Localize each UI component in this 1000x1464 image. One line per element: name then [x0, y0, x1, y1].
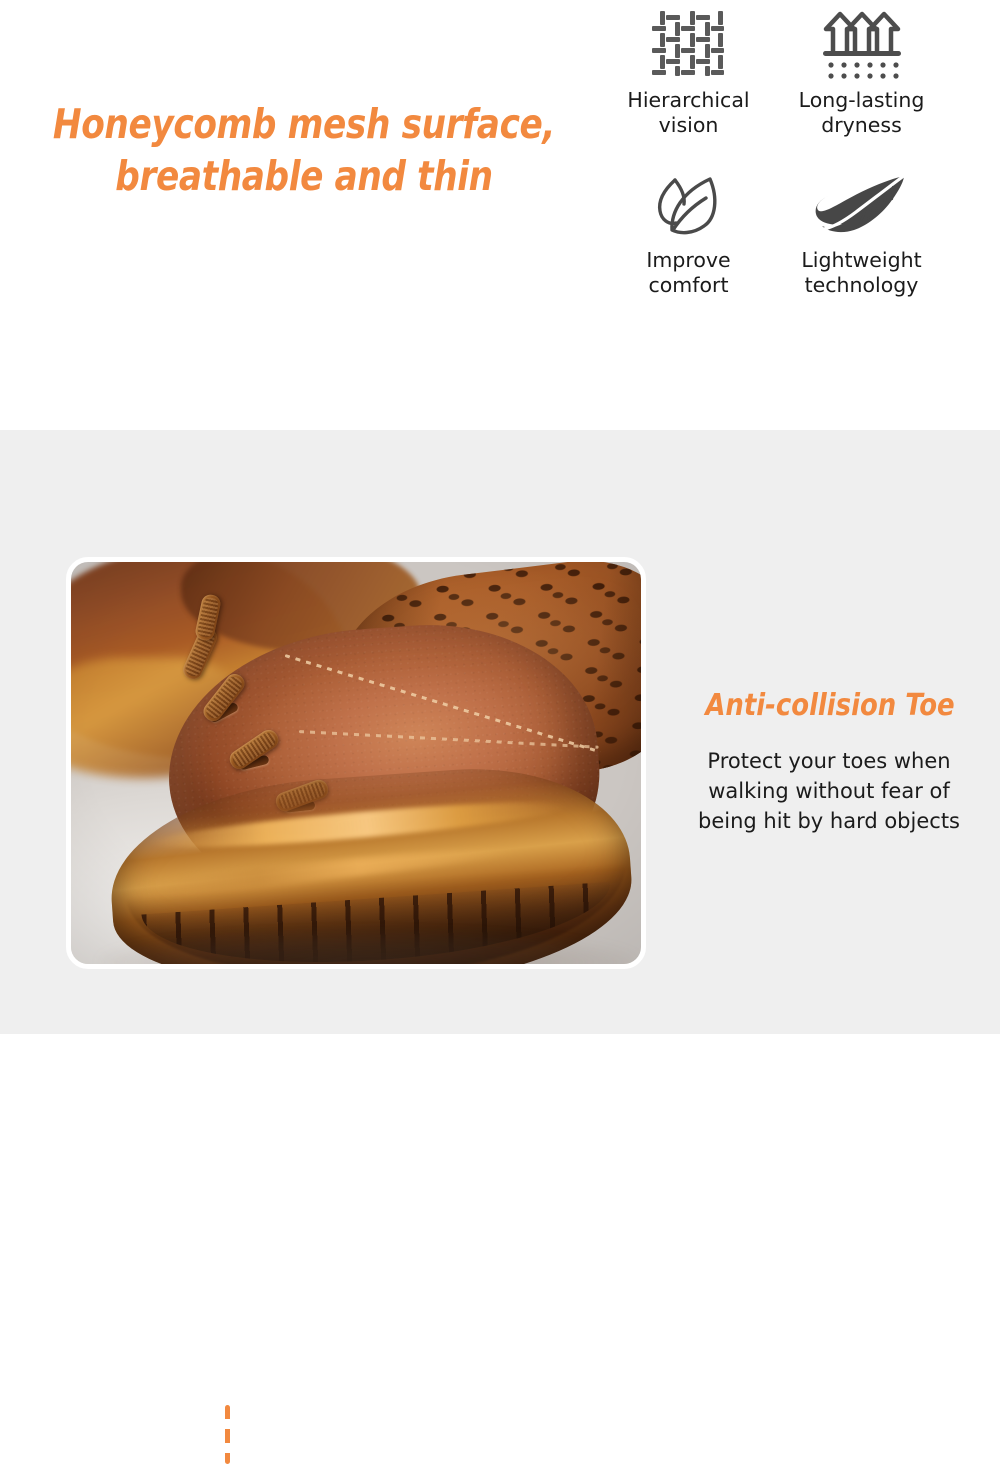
leaves-comfort-icon — [648, 166, 730, 244]
anti-collision-toe-description: Protect your toes when walking without f… — [660, 746, 998, 836]
anti-collision-toe-section — [0, 430, 1000, 1034]
shoe-toe-photo-frame — [66, 557, 646, 969]
feature-item-improve-comfort: Improve comfort — [605, 166, 772, 298]
feature-label-hierarchical-vision: Hierarchical vision — [627, 88, 749, 138]
headline-line-2: breathable and thin — [21, 150, 586, 202]
feature-item-long-lasting-dryness: Long-lasting dryness — [778, 6, 945, 138]
feature-label-line-1: Long-lasting — [799, 88, 925, 112]
lace-strap — [194, 593, 222, 642]
foreground-shoe — [89, 580, 641, 964]
feature-item-hierarchical-vision: Hierarchical vision — [605, 6, 772, 138]
feature-label-lightweight-technology: Lightweight technology — [801, 248, 921, 298]
feature-label-line-2: vision — [659, 113, 719, 137]
main-headline: Honeycomb mesh surface, breathable and t… — [21, 98, 586, 202]
top-feature-section: Honeycomb mesh surface, breathable and t… — [0, 0, 1000, 430]
shoe-toe-photo — [71, 562, 641, 964]
description-line-2: walking without fear of — [660, 776, 998, 806]
feature-label-line-1: Improve — [646, 248, 730, 272]
feature-label-improve-comfort: Improve comfort — [646, 248, 730, 298]
anti-collision-toe-title: Anti-collision Toe — [678, 688, 981, 724]
feature-icon-grid: Hierarchical vision — [605, 6, 945, 298]
upward-arrows-dryness-icon — [819, 6, 905, 84]
headline-line-1: Honeycomb mesh surface, — [21, 98, 586, 150]
feature-label-line-1: Hierarchical — [627, 88, 749, 112]
feature-label-long-lasting-dryness: Long-lasting dryness — [799, 88, 925, 138]
orange-dashed-connector — [225, 1405, 230, 1464]
description-line-3: being hit by hard objects — [660, 806, 998, 836]
feature-label-line-2: comfort — [648, 273, 728, 297]
description-line-1: Protect your toes when — [660, 746, 998, 776]
feature-item-lightweight-technology: Lightweight technology — [778, 166, 945, 298]
feature-label-line-2: technology — [805, 273, 919, 297]
feature-label-line-1: Lightweight — [801, 248, 921, 272]
woven-mesh-icon — [650, 6, 728, 84]
feature-label-line-2: dryness — [821, 113, 902, 137]
feather-lightweight-icon — [812, 166, 912, 244]
